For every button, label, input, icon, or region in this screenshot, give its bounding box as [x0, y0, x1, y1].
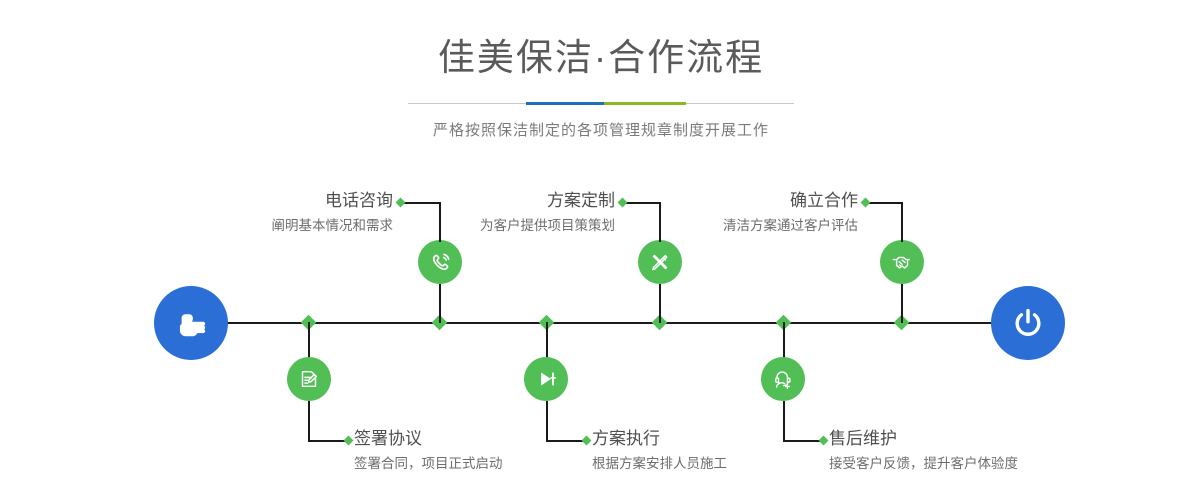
stem-step-5	[901, 284, 903, 323]
stem-step-6	[783, 322, 785, 360]
label-desc-step-3: 为客户提供项目策策划	[415, 211, 615, 236]
label-desc-step-4: 根据方案安排人员施工	[592, 449, 792, 474]
phone-call-icon	[427, 249, 454, 276]
label-title-step-3: 方案定制	[415, 190, 615, 211]
elbow-h-step-4	[546, 440, 586, 442]
elbow-h-step-2	[308, 440, 348, 442]
process-timeline: 电话咨询 阐明基本情况和需求 签署协议 签署合同，项目正式启动	[0, 0, 1202, 502]
node-step-5[interactable]	[880, 240, 924, 284]
timeline-axis	[155, 322, 1047, 324]
label-title-step-5: 确立合作	[655, 190, 858, 211]
elbow-v-step-2	[308, 401, 310, 441]
node-step-3[interactable]	[638, 240, 682, 284]
label-step-2: 签署协议 签署合同，项目正式启动	[354, 428, 564, 474]
stem-step-4	[546, 322, 548, 360]
pointing-hand-icon	[171, 303, 211, 343]
elbow-v-step-5	[901, 202, 903, 242]
label-desc-step-2: 签署合同，项目正式启动	[354, 449, 564, 474]
label-tip-step-5	[861, 198, 871, 208]
label-title-step-4: 方案执行	[592, 428, 792, 449]
label-title-step-2: 签署协议	[354, 428, 564, 449]
node-step-1[interactable]	[418, 240, 462, 284]
customer-support-icon	[770, 366, 796, 392]
label-step-6: 售后维护 接受客户反馈，提升客户体验度	[829, 428, 1059, 474]
label-desc-step-6: 接受客户反馈，提升客户体验度	[829, 449, 1059, 474]
label-tip-step-4	[582, 436, 592, 446]
stem-step-2	[308, 322, 310, 360]
power-icon	[1007, 302, 1049, 344]
label-title-step-1: 电话咨询	[200, 190, 393, 211]
elbow-v-step-4	[546, 401, 548, 441]
flowchart-page: 佳美保洁·合作流程 严格按照保洁制定的各项管理规章制度开展工作	[0, 0, 1202, 502]
label-tip-step-3	[618, 198, 628, 208]
label-title-step-6: 售后维护	[829, 428, 1059, 449]
stem-step-3	[659, 284, 661, 323]
pencil-ruler-icon	[647, 249, 673, 275]
label-step-1: 电话咨询 阐明基本情况和需求	[200, 190, 393, 236]
node-step-4[interactable]	[524, 357, 568, 401]
label-step-5: 确立合作 清洁方案通过客户评估	[655, 190, 858, 236]
elbow-v-step-6	[783, 401, 785, 441]
label-tip-step-6	[819, 436, 829, 446]
stem-step-1	[439, 284, 441, 323]
label-step-3: 方案定制 为客户提供项目策策划	[415, 190, 615, 236]
label-desc-step-1: 阐明基本情况和需求	[200, 211, 393, 236]
node-step-6[interactable]	[761, 357, 805, 401]
handshake-icon	[889, 249, 916, 276]
label-desc-step-5: 清洁方案通过客户评估	[655, 211, 858, 236]
play-execute-icon	[533, 366, 559, 392]
elbow-h-step-6	[783, 440, 823, 442]
document-sign-icon	[296, 366, 322, 392]
label-tip-step-2	[344, 436, 354, 446]
node-step-2[interactable]	[287, 357, 331, 401]
timeline-end-endpoint	[991, 286, 1065, 360]
timeline-start-endpoint	[154, 286, 228, 360]
label-step-4: 方案执行 根据方案安排人员施工	[592, 428, 792, 474]
label-tip-step-1	[396, 198, 406, 208]
